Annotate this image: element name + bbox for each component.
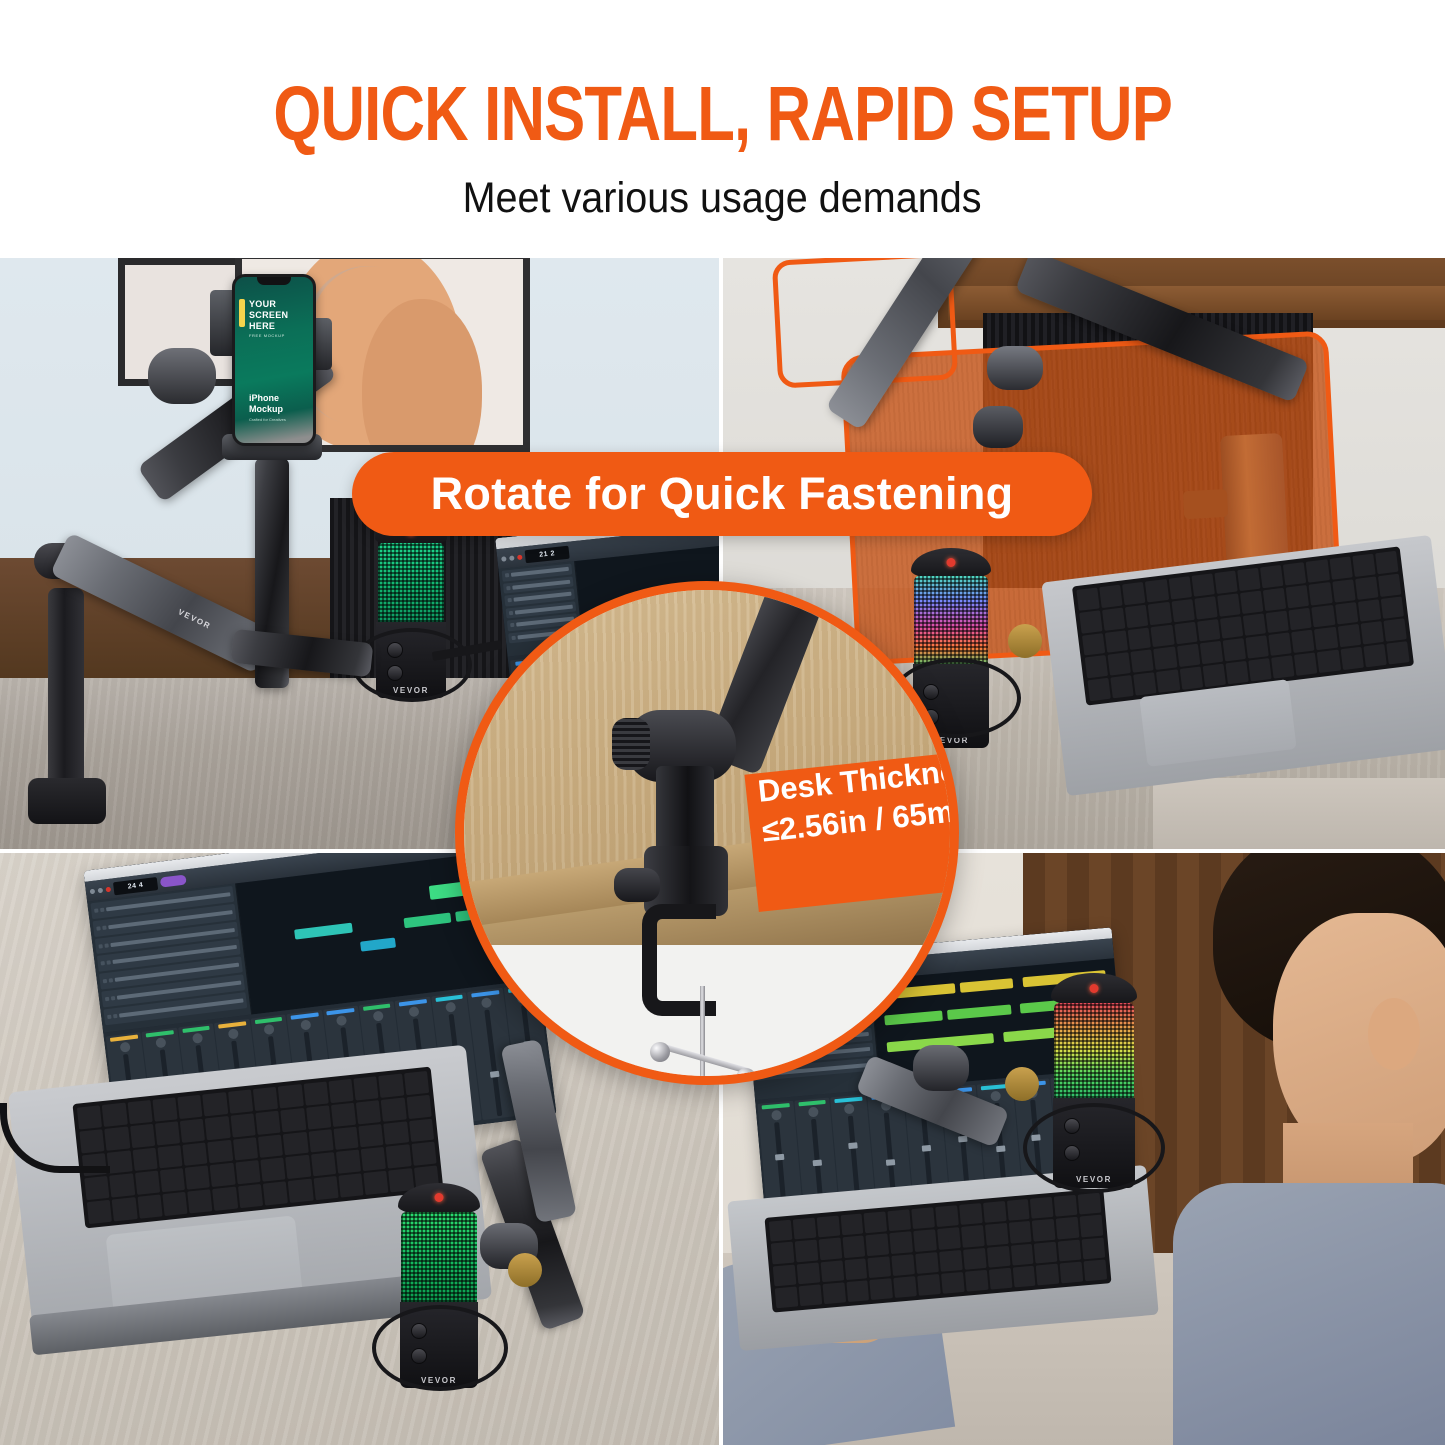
clamp-handle-ball-left bbox=[650, 1042, 670, 1062]
transport-dot[interactable] bbox=[509, 555, 514, 560]
boom-gold-ring bbox=[508, 1253, 542, 1287]
magnified-clamp-screw-rod bbox=[700, 986, 705, 1085]
mic-rgb-grille bbox=[1054, 1003, 1133, 1102]
mic-power-led-icon bbox=[435, 1193, 444, 1202]
arm-pivot-knob bbox=[148, 348, 216, 404]
daw-time-display: 21 2 bbox=[525, 545, 570, 563]
phone-tagline: FREE MOCKUP bbox=[249, 333, 285, 338]
floor-stand-base bbox=[28, 778, 106, 824]
page-title: QUICK INSTALL, RAPID SETUP bbox=[273, 76, 1172, 153]
phone-footer-sub: Crafted for Creatives bbox=[249, 417, 286, 422]
mic-power-led-icon bbox=[947, 558, 956, 567]
mic-power-led-icon bbox=[1090, 984, 1099, 993]
daw-track-list bbox=[87, 883, 252, 1032]
phone-footer-title: iPhone Mockup bbox=[249, 393, 283, 415]
transport-dot[interactable] bbox=[98, 887, 104, 893]
header: QUICK INSTALL, RAPID SETUP Meet various … bbox=[0, 0, 1445, 258]
transport-dot[interactable] bbox=[501, 556, 506, 561]
magnified-side-screw bbox=[614, 868, 660, 902]
phone-headline: YOUR SCREEN HERE bbox=[249, 299, 288, 332]
floor-area bbox=[1153, 778, 1445, 849]
rotate-fastening-badge: Rotate for Quick Fastening bbox=[352, 452, 1092, 536]
boom-gold-ring bbox=[1005, 1067, 1039, 1101]
record-button[interactable] bbox=[517, 554, 522, 559]
person bbox=[1153, 853, 1445, 1445]
rotate-fastening-label: Rotate for Quick Fastening bbox=[431, 468, 1014, 520]
audio-region[interactable] bbox=[294, 922, 353, 939]
phone-accent-tab bbox=[239, 299, 245, 327]
mic-rgb-grille bbox=[378, 543, 444, 626]
audio-region[interactable] bbox=[404, 913, 451, 929]
page-subtitle: Meet various usage demands bbox=[463, 177, 982, 220]
clamp-post-knob bbox=[1183, 489, 1228, 519]
clamp-detail-magnifier: Desk Thickness ≤2.56in / 65mm bbox=[455, 581, 959, 1085]
phone-notch bbox=[257, 277, 291, 285]
arm-pivot-knob bbox=[973, 406, 1023, 448]
product-infographic: QUICK INSTALL, RAPID SETUP Meet various … bbox=[0, 0, 1445, 1445]
transport-dot[interactable] bbox=[90, 888, 96, 894]
audio-region[interactable] bbox=[360, 937, 396, 951]
person-ear bbox=[1368, 998, 1420, 1070]
person-shirt bbox=[1173, 1183, 1445, 1445]
mic-rgb-grille bbox=[401, 1212, 476, 1306]
shock-mount-bl bbox=[372, 1305, 508, 1391]
audio-region[interactable] bbox=[947, 1005, 1011, 1020]
audio-region[interactable] bbox=[959, 978, 1013, 993]
daw-time-display: 24 4 bbox=[113, 877, 158, 895]
arm-tension-knob bbox=[987, 346, 1043, 390]
daw-mode-button[interactable] bbox=[160, 875, 187, 888]
phone-mockup: YOUR SCREEN HERE FREE MOCKUP iPhone Mock… bbox=[232, 274, 316, 446]
magnified-tension-knob bbox=[612, 718, 650, 770]
record-button[interactable] bbox=[105, 886, 111, 892]
vevor-logo-arm: VEVOR bbox=[177, 608, 213, 632]
boom-gold-ring bbox=[1008, 624, 1042, 658]
shock-mount-br bbox=[1023, 1103, 1165, 1193]
